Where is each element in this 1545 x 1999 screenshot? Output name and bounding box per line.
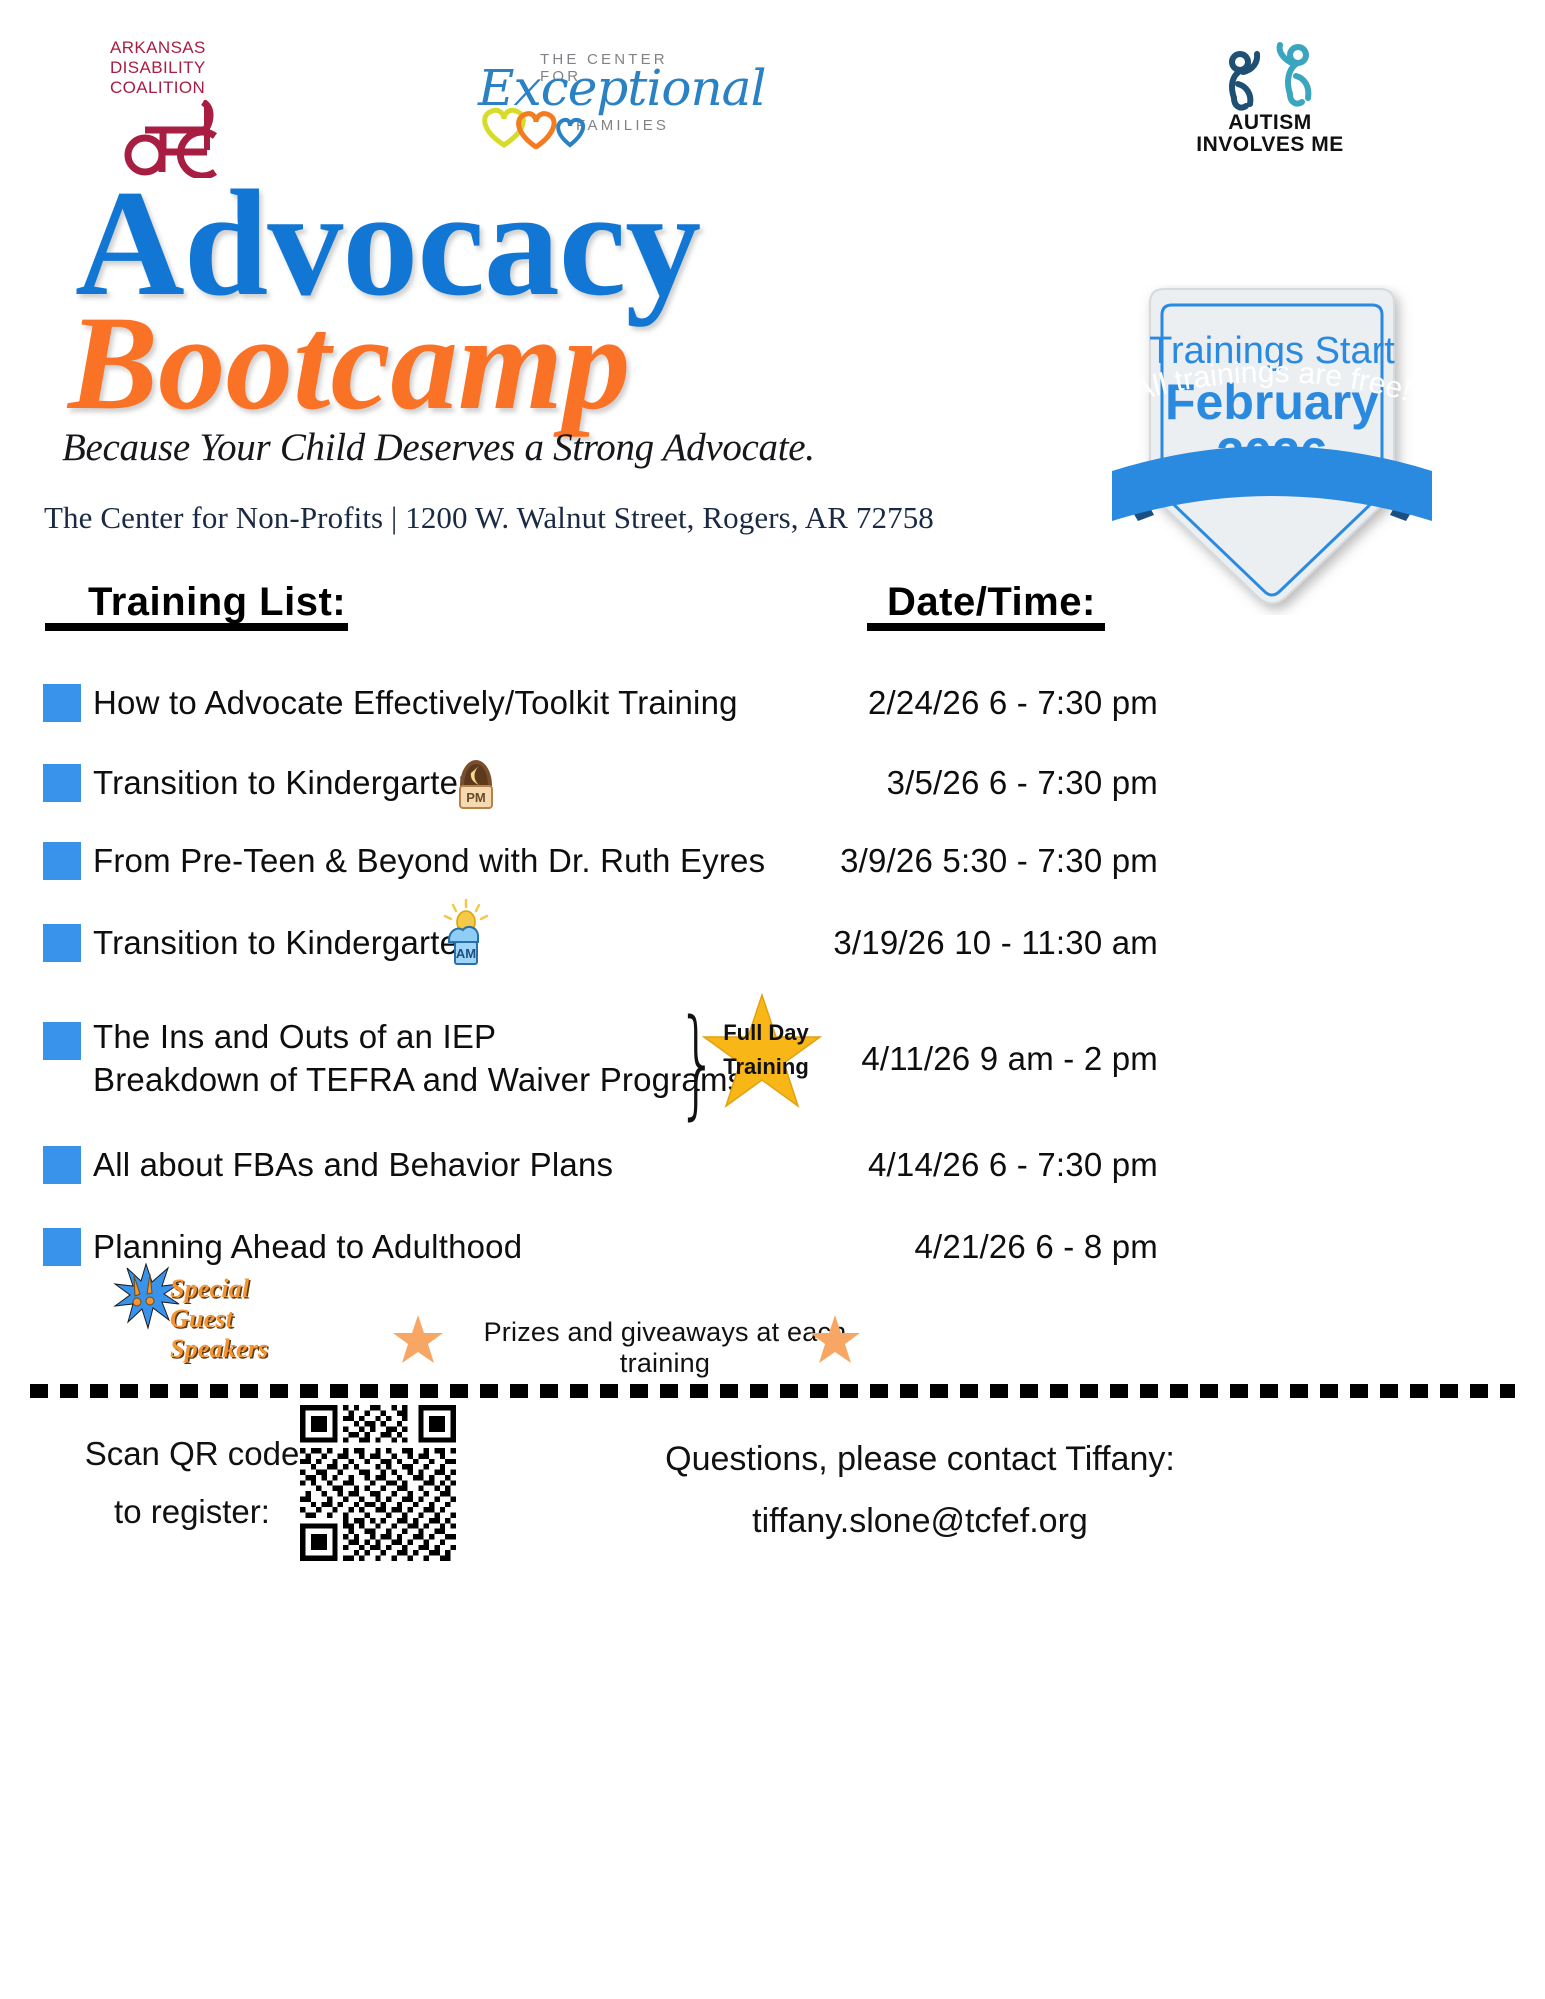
adc-line1: ARKANSAS [110, 38, 250, 58]
row-datetime: 3/9/26 5:30 - 7:30 pm [700, 842, 1158, 880]
venue-address: The Center for Non-Profits | 1200 W. Wal… [44, 500, 934, 536]
row-bullet [43, 764, 81, 802]
prize-star-right-icon [809, 1314, 861, 1366]
row-title: Transition to Kindergarten [93, 924, 477, 962]
row-datetime: 2/24/26 6 - 7:30 pm [700, 684, 1158, 722]
row-title: Planning Ahead to Adulthood [93, 1228, 522, 1266]
adc-line3: COALITION [110, 78, 250, 98]
row-bullet [43, 1022, 81, 1060]
contact-line1: Questions, please contact Tiffany: [640, 1428, 1200, 1490]
logo-row: ARKANSAS DISABILITY COALITION THE CENTER… [0, 0, 1545, 180]
page-title-line2: Bootcamp [68, 296, 630, 431]
date-time-header: Date/Time: [887, 580, 1096, 625]
row-title-secondary: Breakdown of TEFRA and Waiver Programs [93, 1061, 744, 1099]
logo-autism-involves-me: AUTISM INVOLVES ME [1180, 42, 1360, 162]
row-title: Transition to Kindergarten [93, 764, 477, 802]
scan-line2: to register: [62, 1483, 322, 1541]
logo-center-for-exceptional-families: THE CENTER FOR Exceptional FAMILIES [470, 45, 690, 150]
am-sunrise-icon: AM [438, 898, 494, 968]
dashed-divider [30, 1384, 1515, 1398]
two-dancing-figures-icon [1210, 42, 1330, 112]
row-bullet [43, 1146, 81, 1184]
contact-block: Questions, please contact Tiffany: tiffa… [640, 1428, 1200, 1552]
contact-email[interactable]: tiffany.slone@tcfef.org [640, 1490, 1200, 1552]
autism-line2: INVOLVES ME [1180, 134, 1360, 156]
pm-night-icon: PM [448, 756, 504, 812]
row-datetime: 4/21/26 6 - 8 pm [700, 1228, 1158, 1266]
svg-text:PM: PM [466, 790, 486, 805]
badge-line3: 2026 [1216, 428, 1327, 484]
row-datetime: 4/11/26 9 am - 2 pm [700, 1040, 1158, 1078]
row-bullet [43, 684, 81, 722]
row-title: The Ins and Outs of an IEP [93, 1018, 496, 1056]
logo-arkansas-disability-coalition: ARKANSAS DISABILITY COALITION [110, 38, 250, 148]
three-hearts-icon [474, 101, 594, 149]
row-title: How to Advocate Effectively/Toolkit Trai… [93, 684, 738, 722]
scan-line1: Scan QR code [62, 1425, 322, 1483]
special-guest-speakers-callout: Special Guest Speakers [112, 1262, 180, 1335]
row-title: All about FBAs and Behavior Plans [93, 1146, 613, 1184]
training-list-header: Training List: [88, 580, 346, 625]
adc-line2: DISABILITY [110, 58, 250, 78]
tagline: Because Your Child Deserves a Strong Adv… [62, 425, 815, 470]
special-guest-speakers-label: Special Guest Speakers [170, 1274, 268, 1364]
autism-line1: AUTISM [1180, 112, 1360, 134]
date-time-underline [867, 623, 1105, 631]
training-list-underline [45, 623, 348, 631]
row-datetime: 3/19/26 10 - 11:30 am [700, 924, 1158, 962]
row-bullet [43, 842, 81, 880]
row-bullet [43, 1228, 81, 1266]
flyer-page: ARKANSAS DISABILITY COALITION THE CENTER… [0, 0, 1545, 1999]
row-datetime: 4/14/26 6 - 7:30 pm [700, 1146, 1158, 1184]
row-title: From Pre-Teen & Beyond with Dr. Ruth Eyr… [93, 842, 765, 880]
row-bullet [43, 924, 81, 962]
row-datetime: 3/5/26 6 - 7:30 pm [700, 764, 1158, 802]
svg-text:AM: AM [456, 946, 476, 961]
scan-qr-label: Scan QR code to register: [62, 1425, 322, 1541]
qr-code[interactable] [300, 1405, 456, 1561]
